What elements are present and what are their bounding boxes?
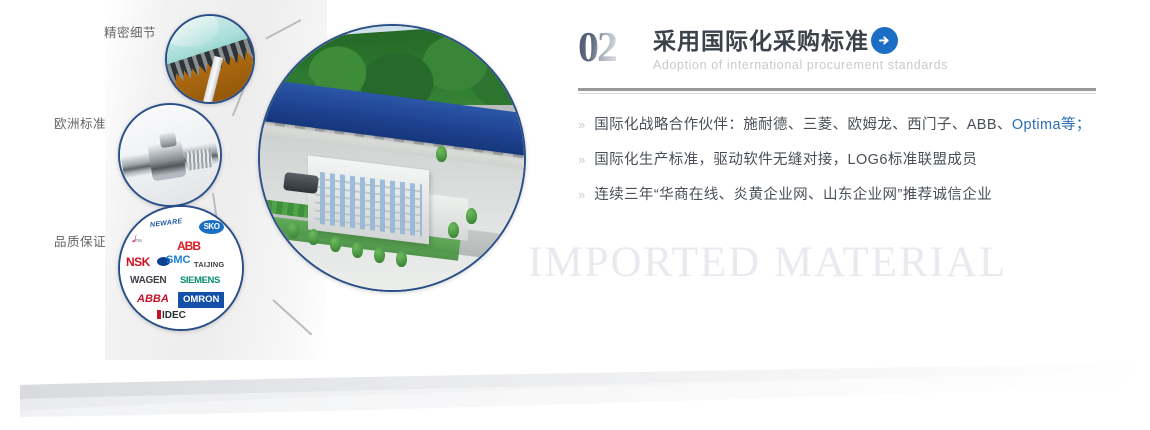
chevron-bullet-icon: » [578, 116, 585, 134]
tree [396, 251, 407, 267]
ball-screw-bubble [118, 103, 222, 207]
section-title-en: Adoption of international procurement st… [653, 58, 948, 72]
list-item: » 连续三年“华商在线、炎黄企业网、山东企业网”推荐诚信企业 [578, 186, 1098, 204]
screw-flange [159, 132, 177, 148]
bullet-text-main: 连续三年“华商在线、炎黄企业网、山东企业网”推荐诚信企业 [594, 187, 992, 203]
bullet-text-main: 国际化生产标准，驱动软件无缝对接，LOG6标准联盟成员 [594, 152, 977, 168]
brand-logo-omron: OMRON [178, 292, 224, 308]
left-image-composite: 精密细节 欧洲标准 品质保证 NEWARE SKO 𝅗𝅥ma ABB NSK SM… [0, 0, 560, 380]
tree [288, 222, 299, 238]
bullet-text-main: 国际化战略合作伙伴：施耐德、三菱、欧姆龙、西门子、ABB、 [594, 117, 1012, 133]
brand-logo-abba: ABBA [137, 294, 169, 305]
section-title-cn: 采用国际化采购标准 [653, 22, 869, 56]
brand-logo-optima: 𝅗𝅥ma [132, 235, 142, 244]
section-content: 02 采用国际化采购标准 Adoption of international p… [578, 22, 1098, 221]
section-number: 02 [578, 24, 616, 72]
brand-logo-nsk: NSK [126, 256, 150, 268]
label-precision-detail: 精密细节 [104, 22, 156, 41]
chevron-bullet-icon: » [578, 151, 585, 169]
office-building [308, 156, 429, 245]
section-header: 02 采用国际化采购标准 Adoption of international p… [578, 22, 1098, 84]
header-divider [578, 88, 1096, 94]
bullet-text: 国际化战略合作伙伴：施耐德、三菱、欧姆龙、西门子、ABB、Optima等； [594, 116, 1091, 134]
label-european-standard: 欧洲标准 [54, 113, 106, 132]
divider-thick-line [578, 88, 1096, 91]
arrow-right-circle-icon[interactable] [871, 27, 898, 54]
tree [308, 229, 319, 245]
tree [466, 208, 477, 224]
bullet-list: » 国际化战略合作伙伴：施耐德、三菱、欧姆龙、西门子、ABB、Optima等； … [578, 116, 1098, 204]
tree [352, 242, 363, 258]
brand-logo-smc: SMC [166, 255, 190, 266]
brand-logo-taijing: TAIJING [194, 261, 224, 269]
tree [448, 222, 459, 238]
brand-logos-bubble: NEWARE SKO 𝅗𝅥ma ABB NSK SMC TAIJING WAGEN… [118, 205, 244, 331]
bullet-text: 连续三年“华商在线、炎黄企业网、山东企业网”推荐诚信企业 [594, 186, 992, 204]
factory-photo [260, 26, 524, 290]
list-item: » 国际化战略合作伙伴：施耐德、三菱、欧姆龙、西门子、ABB、Optima等； [578, 116, 1098, 134]
list-item: » 国际化生产标准，驱动软件无缝对接，LOG6标准联盟成员 [578, 151, 1098, 169]
brand-logo-neware: NEWARE [150, 218, 183, 229]
gear-macro-bubble [165, 14, 255, 104]
watermark-text: IMPORTED MATERIAL [528, 238, 1007, 287]
factory-bubble [258, 24, 526, 292]
brand-logo-abb: ABB [177, 240, 200, 252]
brand-logo-idec: IDEC [157, 310, 186, 321]
bullet-text-accent: Optima等； [1012, 117, 1091, 133]
brand-logos-canvas: NEWARE SKO 𝅗𝅥ma ABB NSK SMC TAIJING WAGEN… [120, 207, 242, 329]
brand-logo-sko: SKO [199, 220, 224, 234]
tree [374, 247, 385, 263]
label-quality-guarantee: 品质保证 [54, 231, 106, 250]
bullet-text: 国际化生产标准，驱动软件无缝对接，LOG6标准联盟成员 [594, 151, 977, 169]
tree [330, 236, 341, 252]
divider-thin-line [578, 93, 1096, 94]
chevron-bullet-icon: » [578, 186, 585, 204]
tree [436, 146, 447, 162]
screw-thread [185, 148, 214, 171]
brand-logo-wagen: WAGEN [130, 276, 166, 286]
brand-logo-siemens: SIEMENS [180, 276, 220, 286]
